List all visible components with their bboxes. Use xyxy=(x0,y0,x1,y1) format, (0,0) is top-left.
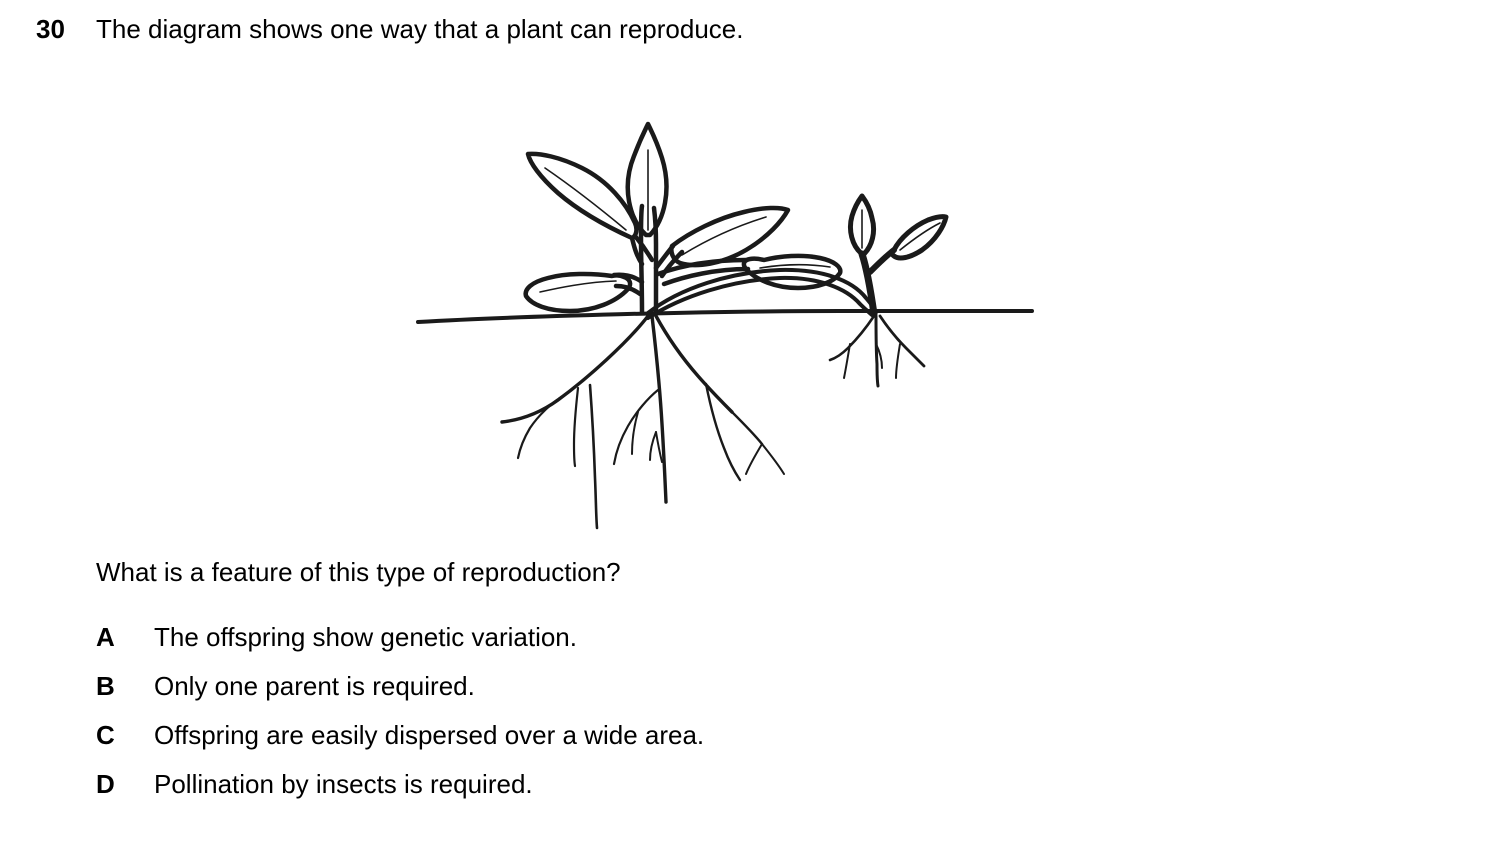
answer-options-list: A The offspring show genetic variation. … xyxy=(96,620,1296,816)
diagram-svg xyxy=(380,60,1080,530)
exam-question-page: 30 The diagram shows one way that a plan… xyxy=(0,0,1500,854)
option-a-text: The offspring show genetic variation. xyxy=(154,620,577,654)
question-stem-text: The diagram shows one way that a plant c… xyxy=(96,12,744,46)
option-d-text: Pollination by insects is required. xyxy=(154,767,533,801)
option-d-letter: D xyxy=(96,767,154,801)
option-c-text: Offspring are easily dispersed over a wi… xyxy=(154,718,704,752)
daughter-roots xyxy=(830,316,924,386)
question-stem: 30 The diagram shows one way that a plan… xyxy=(36,12,744,46)
question-number: 30 xyxy=(36,12,96,46)
option-b-text: Only one parent is required. xyxy=(154,669,475,703)
option-a[interactable]: A The offspring show genetic variation. xyxy=(96,620,1296,669)
parent-leaf-lower-left xyxy=(526,274,642,311)
soil-line xyxy=(418,311,1032,322)
option-c[interactable]: C Offspring are easily dispersed over a … xyxy=(96,718,1296,767)
option-c-letter: C xyxy=(96,718,154,752)
plant-reproduction-diagram xyxy=(380,60,1080,530)
option-b-letter: B xyxy=(96,669,154,703)
option-b[interactable]: B Only one parent is required. xyxy=(96,669,1296,718)
lead-in-question: What is a feature of this type of reprod… xyxy=(96,555,621,589)
option-d[interactable]: D Pollination by insects is required. xyxy=(96,767,1296,816)
option-a-letter: A xyxy=(96,620,154,654)
parent-leaf-upper-left xyxy=(528,154,652,264)
parent-leaf-upper-right xyxy=(656,208,788,276)
parent-roots xyxy=(502,316,784,528)
